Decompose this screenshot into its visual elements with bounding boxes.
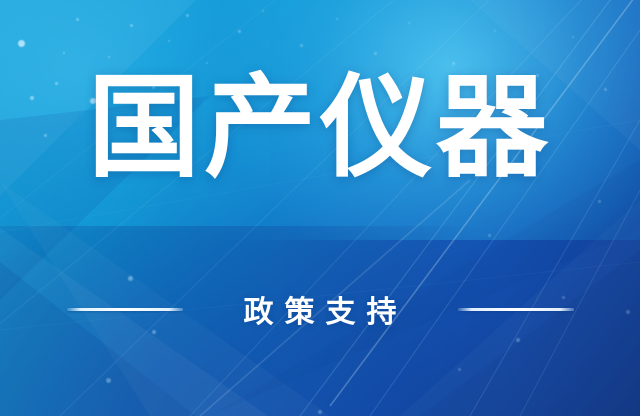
divider-line-left (67, 308, 183, 311)
poster-banner: 国产仪器 政策支持 (0, 0, 640, 416)
poster-content: 国产仪器 政策支持 (0, 0, 640, 416)
page-subtitle: 政策支持 (233, 287, 408, 331)
divider-line-right (458, 308, 574, 311)
subtitle-row: 政策支持 (0, 288, 640, 330)
page-title: 国产仪器 (0, 68, 640, 189)
